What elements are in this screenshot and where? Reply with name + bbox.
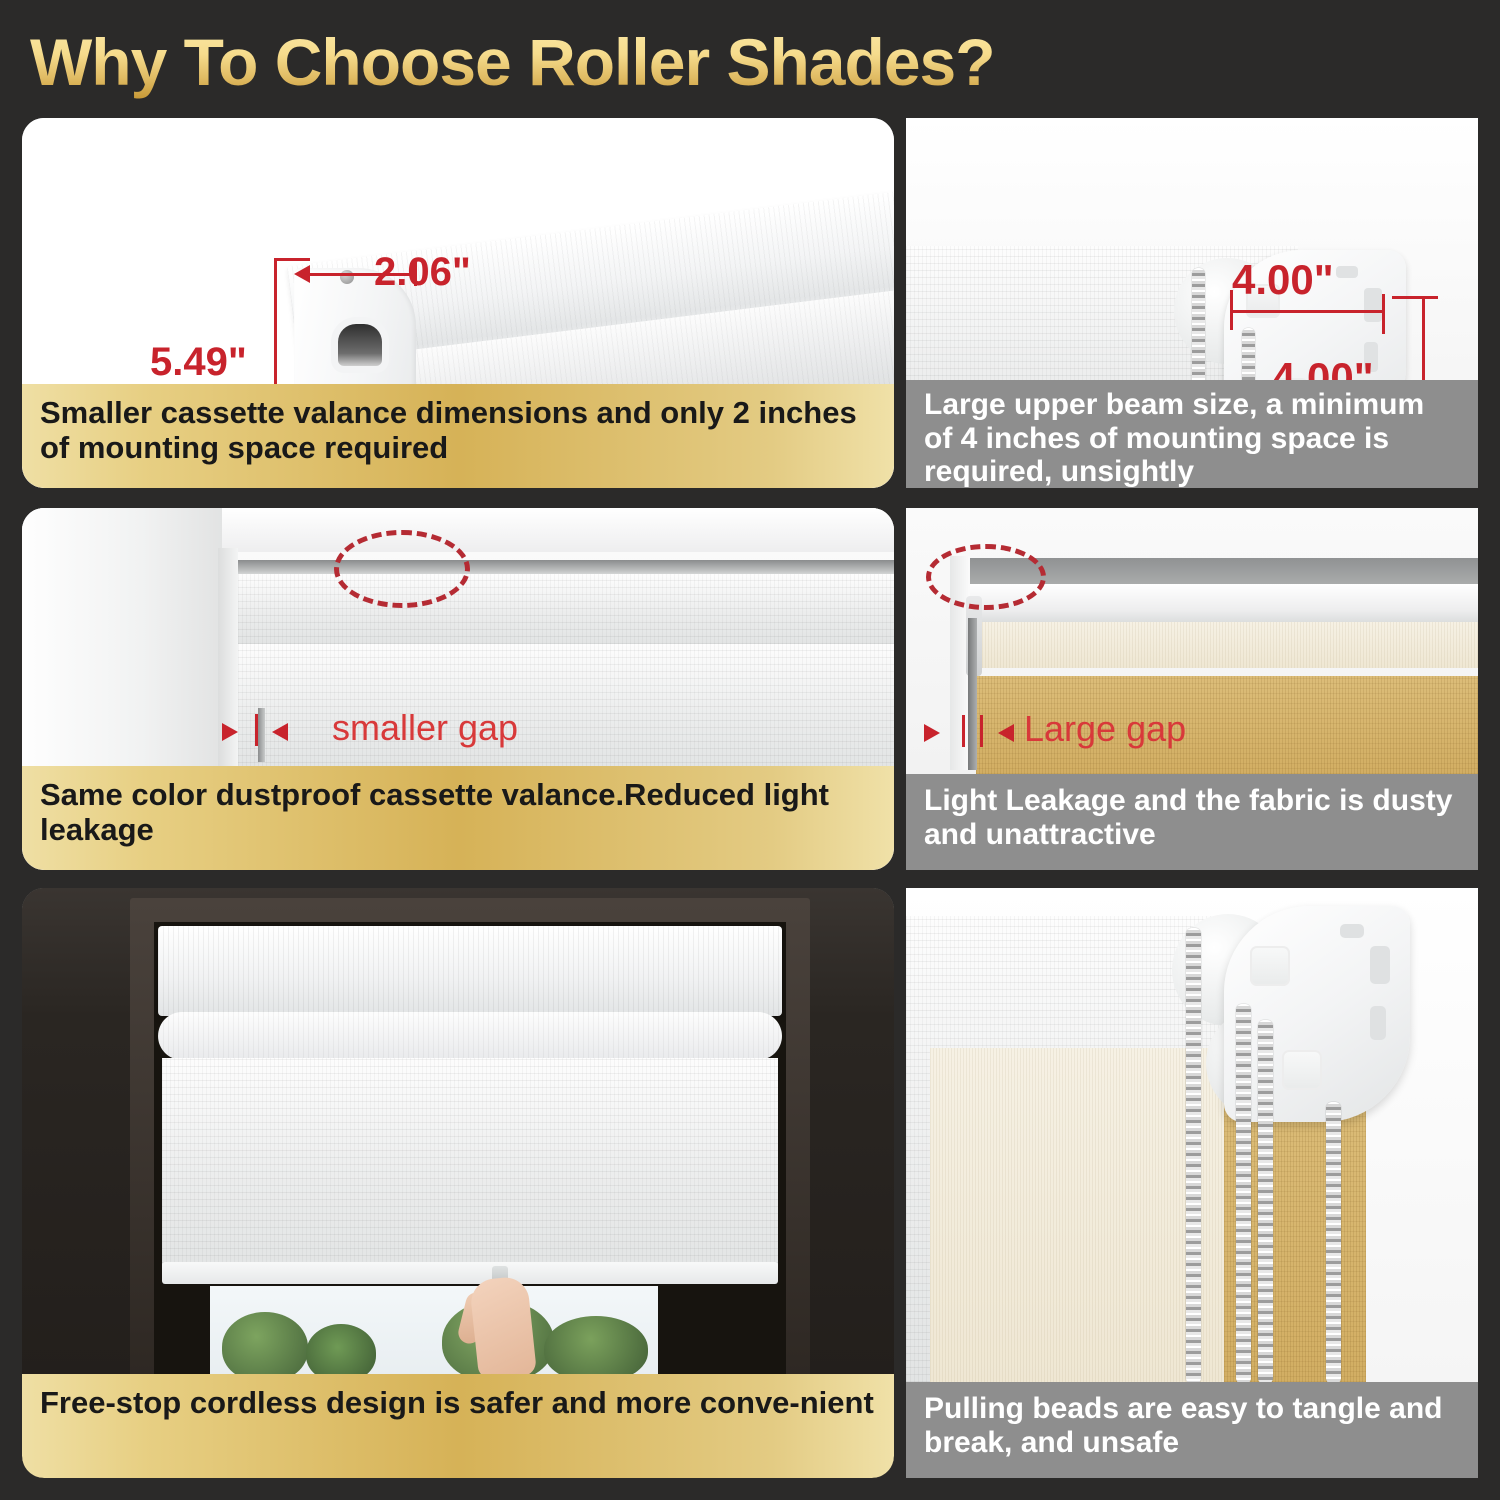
shade-fabric-cream [970, 622, 1478, 668]
bead-chain [1326, 1102, 1341, 1384]
bottom-rail [162, 1262, 778, 1284]
width-dimension-label: 2.06" [374, 250, 471, 295]
height-dim-cap-top [1392, 296, 1438, 299]
mounting-bracket [1224, 906, 1410, 1122]
panel-5-caption: Free-stop cordless design is safer and m… [22, 1374, 894, 1478]
gap-arrow-right [222, 723, 238, 741]
panel-2-caption: Large upper beam size, a minimum of 4 in… [906, 380, 1478, 488]
panel-cordless-design: Free-stop cordless design is safer and m… [22, 888, 894, 1478]
gap-arrow-left [998, 724, 1014, 742]
panel-light-leakage: Large gap Light Leakage and the fabric i… [906, 508, 1478, 870]
gap-arrow-left [272, 723, 288, 741]
panel-large-upper-beam: 4.00" 4.00" Large upper beam size, a min… [906, 118, 1478, 488]
bead-chain [1236, 1004, 1251, 1384]
smaller-gap-label: smaller gap [332, 707, 518, 749]
gap-arrow-right [924, 724, 940, 742]
hand-pulling-shade [469, 1275, 537, 1381]
shade-fabric-cream [930, 1048, 1230, 1382]
height-dim-cap-top [274, 258, 310, 261]
gap-marker-b [980, 715, 983, 747]
gap-highlight-ellipse [334, 530, 470, 608]
width-dim-arrow-left [294, 265, 310, 283]
outdoor-view [210, 1286, 658, 1378]
roller-tube [158, 1012, 782, 1060]
head-rail [970, 558, 1478, 584]
panel-6-caption: Pulling beads are easy to tangle and bre… [906, 1382, 1478, 1478]
bracket-hole [1370, 946, 1390, 984]
bracket-hole [1364, 288, 1382, 322]
cassette-valance [158, 926, 782, 1016]
bead-chain [1258, 1020, 1273, 1384]
page-title: Why To Choose Roller Shades? [30, 22, 1230, 102]
panel-4-caption: Light Leakage and the fabric is dusty an… [906, 774, 1478, 870]
shade-fabric [162, 1058, 778, 1270]
bracket-hole [1336, 266, 1358, 278]
width-dim-line [1232, 310, 1384, 313]
window-frame [22, 508, 222, 770]
valance-fabric [238, 574, 894, 644]
height-dimension-label: 5.49" [150, 340, 247, 385]
panel-dustproof-valance: smaller gap Same color dustproof cassett… [22, 508, 894, 870]
beam-width-label: 4.00" [1232, 256, 1334, 304]
roller-tube [970, 584, 1478, 622]
bead-chain [1186, 928, 1201, 1384]
bracket-arrow-icon [1282, 1050, 1322, 1090]
tree [544, 1316, 648, 1382]
gap-edge [968, 618, 977, 770]
panel-1-caption: Smaller cassette valance dimensions and … [22, 384, 894, 488]
panel-pulling-beads: Pulling beads are easy to tangle and bre… [906, 888, 1478, 1478]
gap-marker-a [962, 715, 965, 747]
gap-marker [255, 714, 258, 746]
panel-3-caption: Same color dustproof cassette valance.Re… [22, 766, 894, 870]
bracket-hole [1340, 924, 1364, 938]
tree [222, 1312, 308, 1382]
width-dim-tick-right [1382, 294, 1385, 334]
large-gap-label: Large gap [1024, 708, 1186, 750]
gap-highlight-ellipse [926, 544, 1046, 610]
panel-smaller-cassette: 2.06" 5.49" Smaller cassette valance dim… [22, 118, 894, 488]
gap-edge [258, 708, 265, 762]
cord-slot [338, 324, 382, 366]
bracket-arrow-icon [1250, 946, 1290, 986]
bracket-hole [1370, 1006, 1386, 1040]
